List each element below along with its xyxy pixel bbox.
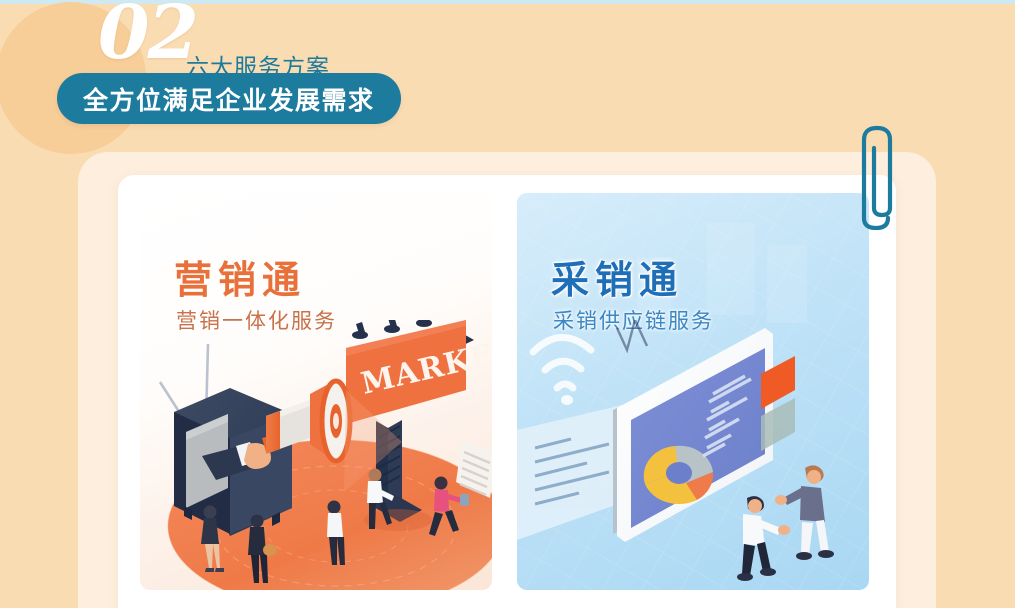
tablet-device — [613, 328, 795, 542]
service-panel-list: 营销通 营销一体化服务 — [118, 175, 896, 608]
section-header: 02 六大服务方案 全方位满足企业发展需求 — [0, 0, 460, 130]
service-title-marketing: 营销通 — [174, 249, 306, 304]
section-badge[interactable]: 全方位满足企业发展需求 — [57, 73, 401, 124]
line-chart — [617, 320, 647, 350]
section-number: 02 — [98, 0, 197, 70]
wifi-icon — [533, 337, 591, 388]
two-people — [737, 465, 834, 581]
page-root: 02 六大服务方案 全方位满足企业发展需求 营销通 营销一体化服务 — [0, 0, 1015, 608]
service-title-procurement: 采销通 — [551, 249, 683, 304]
paperclip-icon — [846, 118, 906, 230]
service-panel-procurement[interactable]: 采销通 采销供应链服务 — [517, 193, 869, 590]
section-badge-label: 全方位满足企业发展需求 — [83, 81, 375, 117]
supply-chain-isometric-illustration — [517, 320, 869, 590]
service-panel-marketing[interactable]: 营销通 营销一体化服务 — [140, 193, 492, 590]
marketing-isometric-illustration: MARKET — [140, 320, 492, 590]
content-card: 营销通 营销一体化服务 — [118, 175, 896, 608]
